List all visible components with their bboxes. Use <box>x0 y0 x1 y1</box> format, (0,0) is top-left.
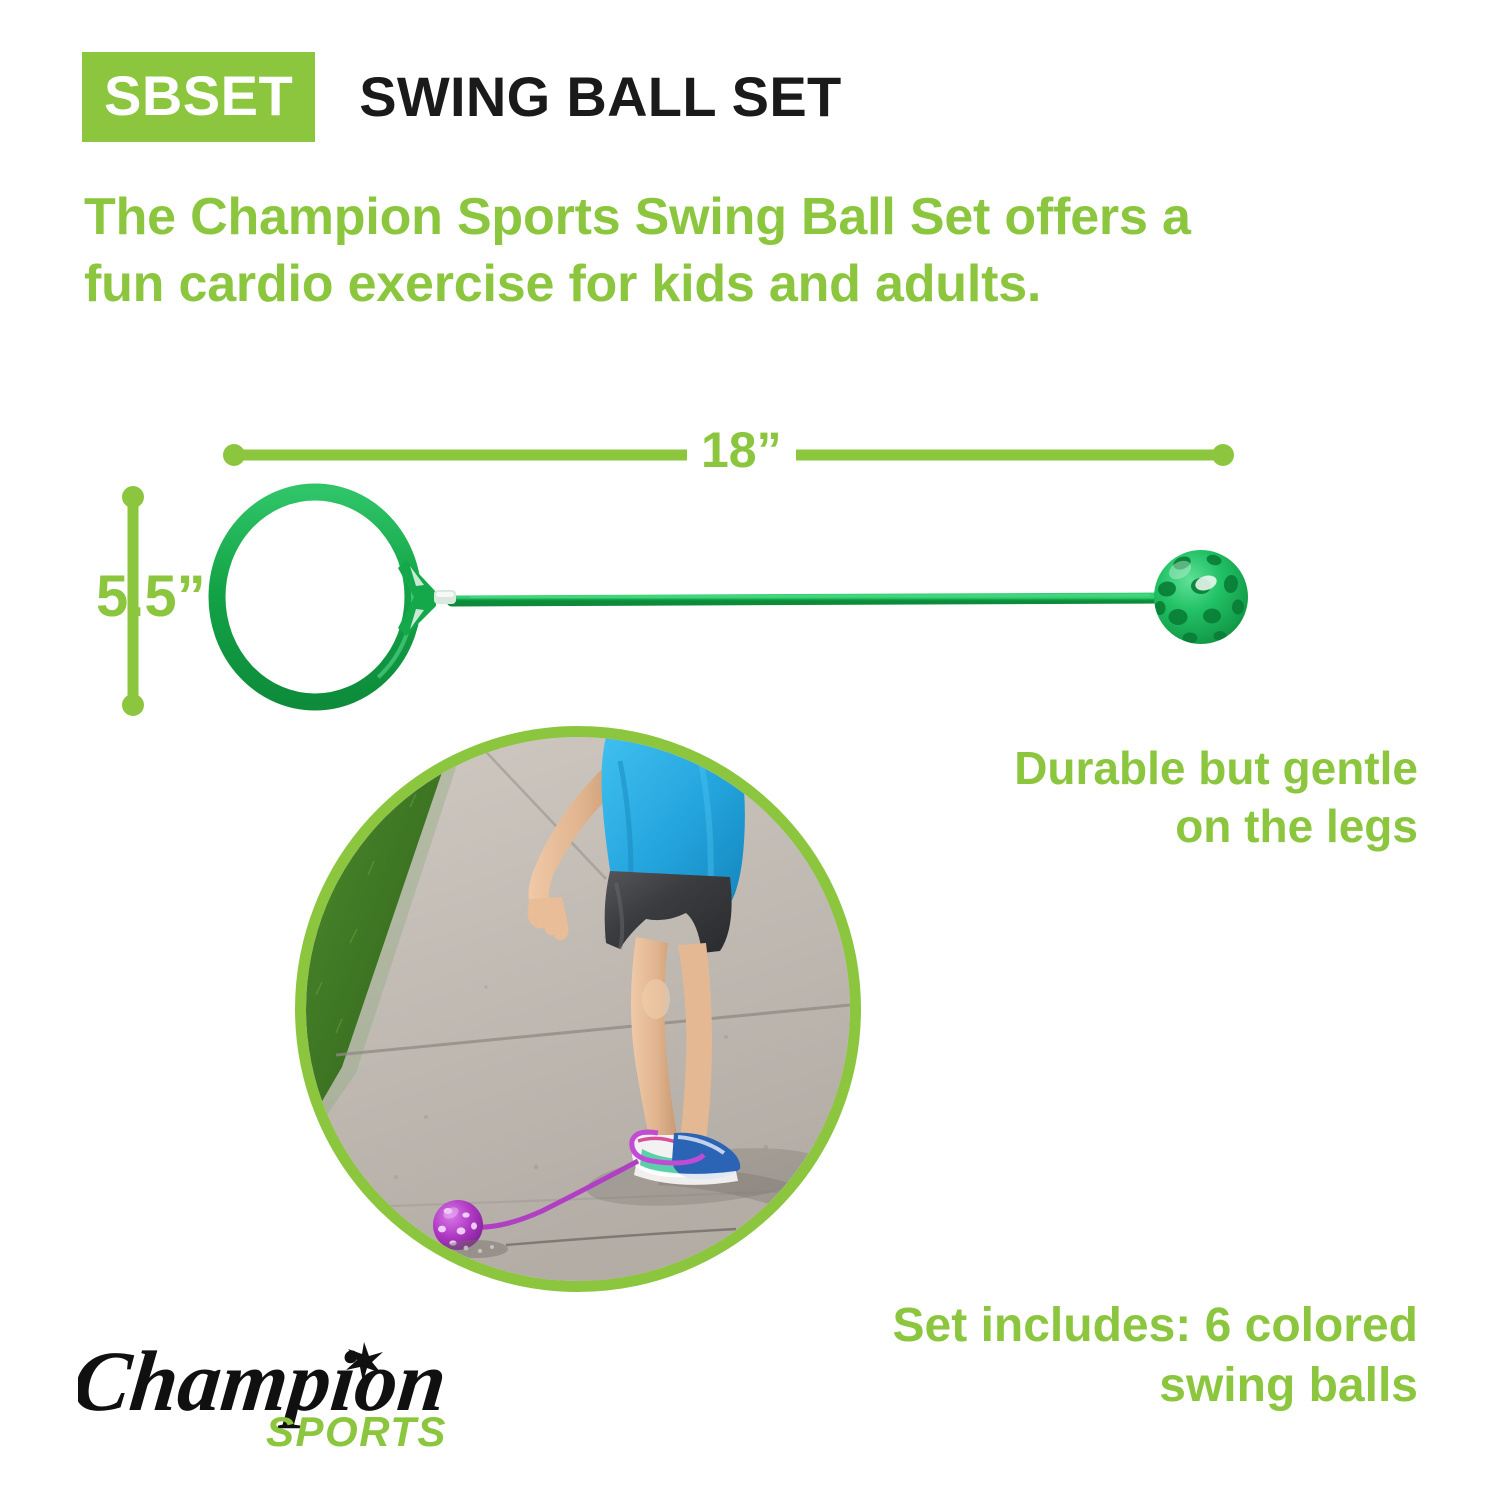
swing-cord <box>452 595 1160 601</box>
dimension-label-width: 18” <box>687 425 796 475</box>
callout-includes-line1: Set includes: 6 colored <box>778 1296 1418 1356</box>
swing-ball <box>1154 550 1248 644</box>
callout-includes-line2: swing balls <box>778 1356 1418 1416</box>
callout-durable-line1: Durable but gentle <box>898 740 1418 798</box>
product-subtitle: The Champion Sports Swing Ball Set offer… <box>84 184 1264 317</box>
page-title: SWING BALL SET <box>359 69 841 125</box>
lifestyle-photo <box>295 726 861 1292</box>
champion-sports-logo: Champion SPORTS <box>78 1318 468 1458</box>
callout-durable: Durable but gentle on the legs <box>898 740 1418 856</box>
sku-badge: SBSET <box>82 52 315 142</box>
callout-durable-line2: on the legs <box>898 798 1418 856</box>
photo-image <box>306 737 850 1281</box>
header: SBSET SWING BALL SET <box>82 52 841 142</box>
logo-subword: SPORTS <box>266 1408 447 1455</box>
dimension-label-height: 5.5” <box>96 568 206 626</box>
infographic-page: SBSET SWING BALL SET The Champion Sports… <box>0 0 1500 1500</box>
ankle-hoop <box>217 492 456 702</box>
callout-includes: Set includes: 6 colored swing balls <box>778 1296 1418 1416</box>
